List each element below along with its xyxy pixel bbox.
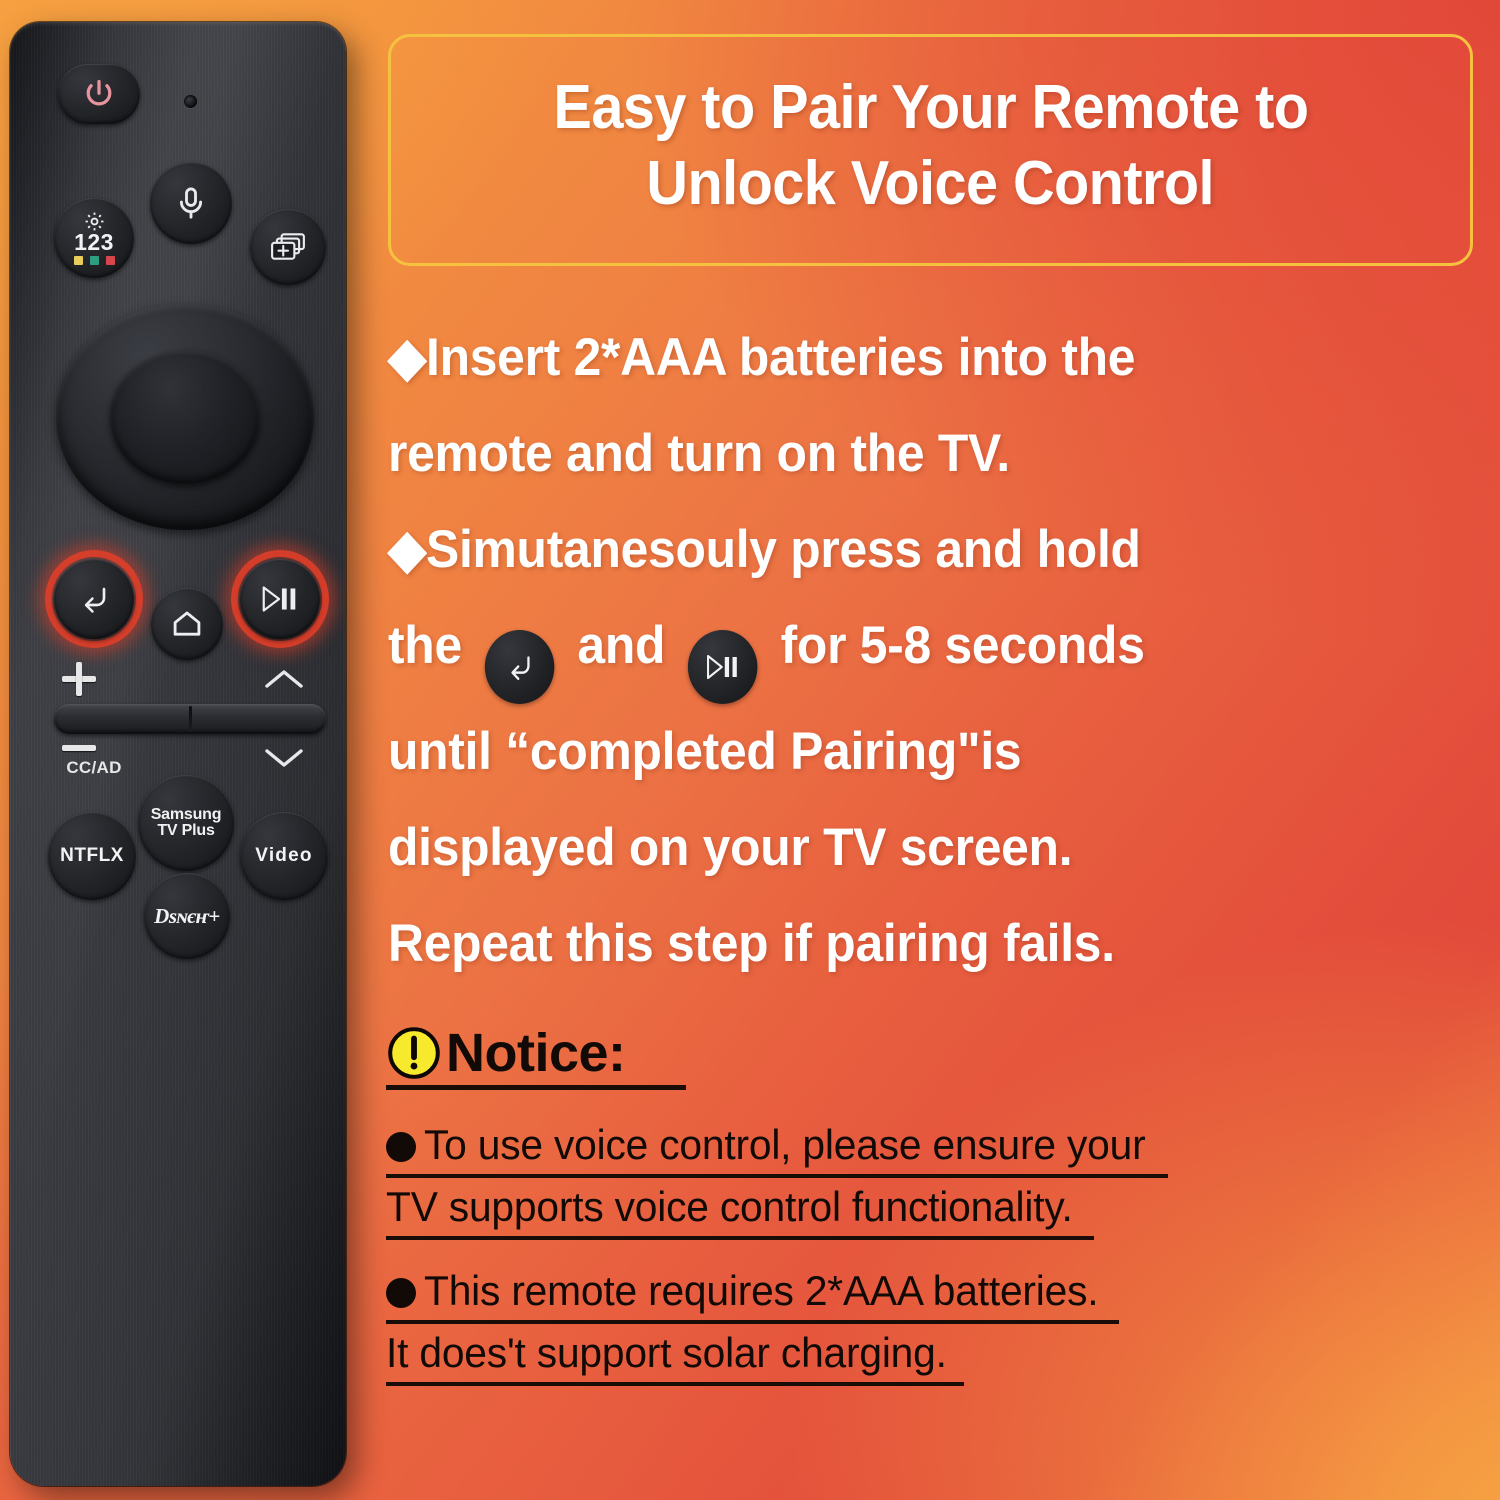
samsung-tv-plus-label-2: TV Plus <box>157 823 214 839</box>
bullet-icon <box>386 1132 416 1162</box>
channel-up-icon[interactable] <box>262 667 306 691</box>
title-line-2: Unlock Voice Control <box>647 146 1215 222</box>
disney-plus-button[interactable]: Dѕɴєҥ+ <box>144 873 230 959</box>
instruction-steps: ◆Insert 2*AAA batteries into the remote … <box>388 310 1483 992</box>
numeric-settings-button[interactable]: 123 <box>54 198 134 278</box>
notice-text: This remote requires 2*AAA batteries. <box>424 1262 1098 1319</box>
notice-text: To use voice control, please ensure your <box>424 1116 1145 1173</box>
power-button[interactable] <box>58 64 140 124</box>
cc-ad-label: CC/AD <box>54 758 134 778</box>
step-line-6: displayed on your TV screen. <box>388 800 1417 896</box>
instruction-panel: Easy to Pair Your Remote to Unlock Voice… <box>370 0 1500 1500</box>
back-button[interactable] <box>54 559 134 639</box>
multiview-button[interactable] <box>250 209 326 285</box>
back-icon <box>500 651 539 683</box>
chevron-down-icon <box>262 746 306 770</box>
netflix-label: NTFLX <box>60 845 124 867</box>
notice-heading: Notice: <box>386 1025 686 1090</box>
chevron-up-icon <box>262 667 306 691</box>
samsung-remote-control: 123 <box>10 22 346 1486</box>
title-line-1: Easy to Pair Your Remote to <box>553 70 1308 146</box>
play-pause-icon <box>258 584 302 614</box>
netflix-button[interactable]: NTFLX <box>48 812 136 900</box>
notice-section: Notice: To use voice control, please ens… <box>386 1025 1486 1408</box>
title-box: Easy to Pair Your Remote to Unlock Voice… <box>388 34 1473 266</box>
notice-text: It does't support solar charging. <box>386 1324 947 1381</box>
warning-icon <box>386 1025 442 1081</box>
notice-item-line: To use voice control, please ensure your <box>386 1116 1168 1178</box>
step-line-2: remote and turn on the TV. <box>388 406 1417 502</box>
back-icon <box>73 582 115 616</box>
video-button[interactable]: Video <box>240 812 328 900</box>
home-button[interactable] <box>151 588 223 660</box>
notice-heading-label: Notice: <box>446 1026 626 1080</box>
inline-back-button <box>485 630 555 704</box>
step-line-7: Repeat this step if pairing fails. <box>388 896 1417 992</box>
volume-up-icon[interactable] <box>62 662 96 696</box>
step-line-4-pre: the <box>388 616 462 675</box>
volume-down-icon[interactable] <box>62 745 96 751</box>
notice-item-line: This remote requires 2*AAA batteries. <box>386 1262 1119 1324</box>
video-label: Video <box>255 845 312 867</box>
step-line-5: until “completed Pairing"is <box>388 704 1417 800</box>
notice-items: To use voice control, please ensure your… <box>386 1116 1486 1386</box>
disney-plus-label: Dѕɴєҥ+ <box>154 904 220 929</box>
ir-emitter-icon <box>184 95 197 108</box>
multiview-icon <box>270 232 306 262</box>
inline-play-pause-button <box>688 630 758 704</box>
step-line-1: ◆Insert 2*AAA batteries into the <box>388 310 1417 406</box>
step-line-4-post: for 5-8 seconds <box>781 616 1145 675</box>
volume-channel-rocker[interactable] <box>54 704 326 734</box>
color-dots <box>74 256 115 265</box>
bullet-icon <box>386 1278 416 1308</box>
step-line-4: the and for 5-8 seconds <box>388 598 1417 704</box>
microphone-icon <box>173 185 209 221</box>
home-icon <box>170 607 204 641</box>
select-button[interactable] <box>110 350 260 484</box>
microphone-button[interactable] <box>150 162 232 244</box>
notice-item: This remote requires 2*AAA batteries. It… <box>386 1262 1486 1386</box>
notice-item: To use voice control, please ensure your… <box>386 1116 1486 1240</box>
notice-item-line: It does't support solar charging. <box>386 1324 964 1386</box>
notice-item-line: TV supports voice control functionality. <box>386 1178 1094 1240</box>
directional-pad[interactable] <box>56 304 314 530</box>
samsung-tv-plus-button[interactable]: Samsung TV Plus <box>138 775 234 871</box>
notice-text: TV supports voice control functionality. <box>386 1178 1073 1235</box>
play-pause-icon <box>703 651 742 683</box>
power-icon <box>82 77 116 111</box>
step-line-4-mid: and <box>577 616 665 675</box>
numeric-label: 123 <box>74 231 114 253</box>
play-pause-button[interactable] <box>240 559 320 639</box>
samsung-tv-plus-label-1: Samsung <box>151 807 222 823</box>
step-line-3: ◆Simutanesouly press and hold <box>388 502 1417 598</box>
channel-down-icon[interactable] <box>262 746 306 770</box>
